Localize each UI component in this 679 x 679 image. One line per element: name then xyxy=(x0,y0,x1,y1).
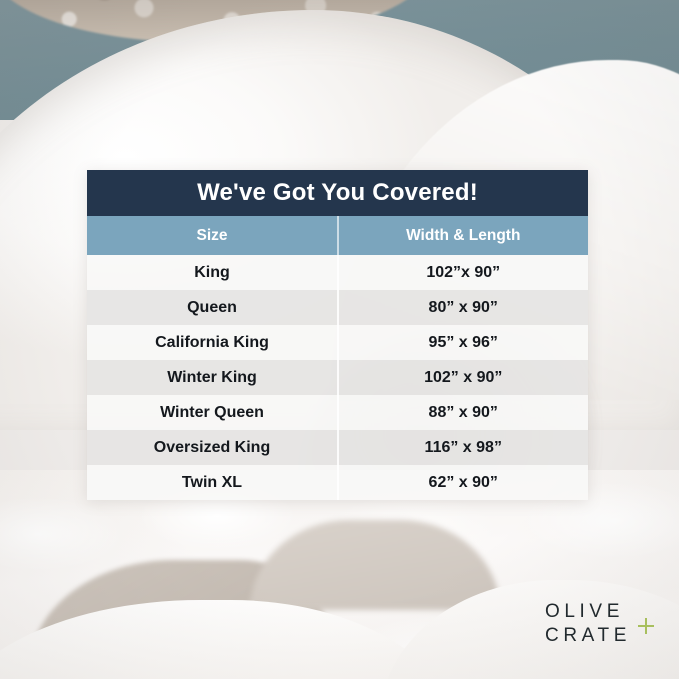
table-row: Winter Queen 88” x 90” xyxy=(87,395,588,430)
cell-size: Twin XL xyxy=(87,474,337,492)
cell-size: Winter Queen xyxy=(87,404,337,422)
table-row: Twin XL 62” x 90” xyxy=(87,465,588,500)
cell-size: King xyxy=(87,264,337,282)
chart-title: We've Got You Covered! xyxy=(197,179,478,207)
chart-header-row: Size Width & Length xyxy=(87,216,588,255)
plus-sparkle-icon xyxy=(638,618,654,634)
cell-dimensions: 95” x 96” xyxy=(339,334,589,352)
table-row: Queen 80” x 90” xyxy=(87,290,588,325)
table-row: Oversized King 116” x 98” xyxy=(87,430,588,465)
cell-size: Winter King xyxy=(87,369,337,387)
cell-size: Oversized King xyxy=(87,439,337,457)
cell-size: California King xyxy=(87,334,337,352)
brand-line-crate: CRATE xyxy=(545,624,631,648)
table-row: California King 95” x 96” xyxy=(87,325,588,360)
cell-size: Queen xyxy=(87,299,337,317)
cell-dimensions: 116” x 98” xyxy=(339,439,589,457)
table-row: Winter King 102” x 90” xyxy=(87,360,588,395)
brand-line-olive: OLIVE xyxy=(545,600,631,624)
brand-wordmark: OLIVE CRATE xyxy=(545,600,631,649)
cell-dimensions: 80” x 90” xyxy=(339,299,589,317)
table-row: King 102”x 90” xyxy=(87,255,588,290)
cell-dimensions: 102” x 90” xyxy=(339,369,589,387)
size-chart-table: We've Got You Covered! Size Width & Leng… xyxy=(87,170,588,500)
column-header-dimensions: Width & Length xyxy=(339,227,589,245)
brand-logo: OLIVE CRATE xyxy=(545,600,654,649)
column-header-size: Size xyxy=(87,227,337,245)
cell-dimensions: 102”x 90” xyxy=(339,264,589,282)
product-size-chart-image: We've Got You Covered! Size Width & Leng… xyxy=(0,0,679,679)
cell-dimensions: 62” x 90” xyxy=(339,474,589,492)
cell-dimensions: 88” x 90” xyxy=(339,404,589,422)
chart-title-bar: We've Got You Covered! xyxy=(87,170,588,216)
